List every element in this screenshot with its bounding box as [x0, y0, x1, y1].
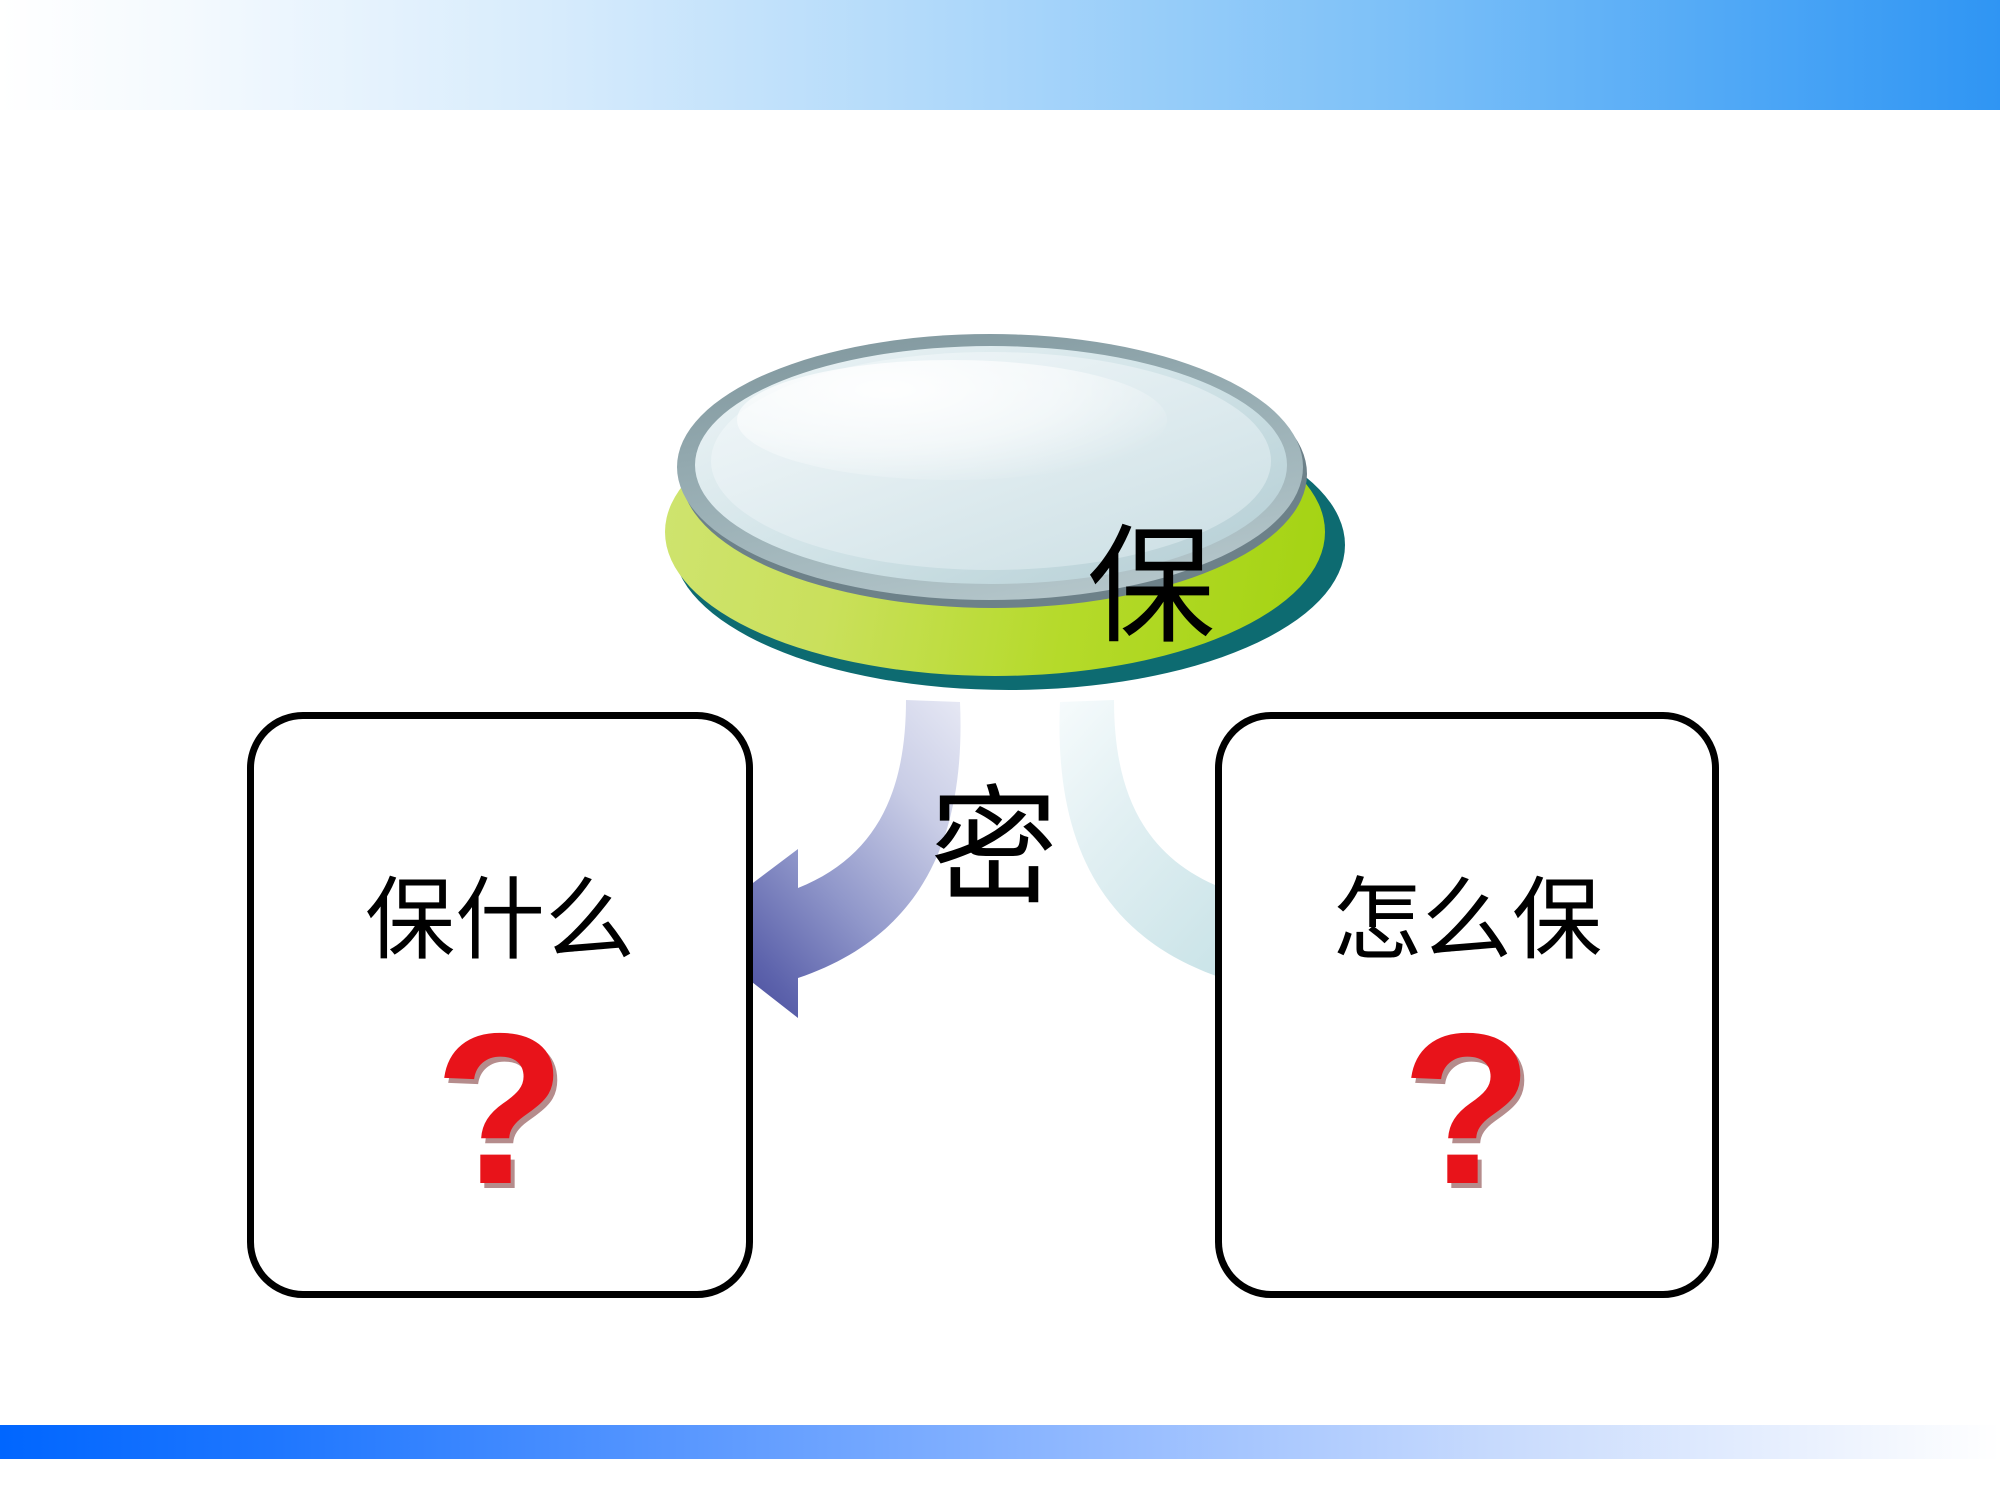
concept-box-right-title: 怎么保: [1222, 847, 1712, 977]
disc-label: 保 密: [895, 392, 1075, 1175]
concept-box-left-title: 保什么: [254, 847, 746, 977]
disc-label-char-1: 保: [1087, 517, 1215, 659]
question-mark-icon: ?: [1222, 1001, 1712, 1216]
concept-box-right[interactable]: 怎么保 ?: [1215, 712, 1719, 1298]
central-disc-shape: 保 密: [655, 330, 1345, 710]
question-mark-icon: ?: [254, 1001, 746, 1216]
concept-box-left[interactable]: 保什么 ?: [247, 712, 753, 1298]
slide-canvas: 保 密: [0, 0, 2000, 1500]
disc-label-char-2: 密: [913, 784, 1075, 915]
